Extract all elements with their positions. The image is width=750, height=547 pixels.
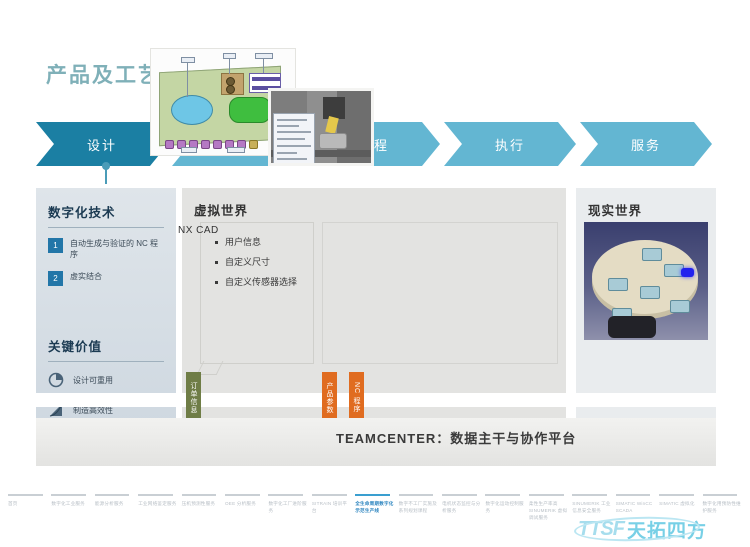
nc-parameters-dialog xyxy=(273,113,315,165)
nav-rule xyxy=(225,494,260,496)
bullet-item: 自定义尺寸 xyxy=(215,255,307,270)
pie-chart-icon xyxy=(48,372,66,388)
nav-label: SIMATIC 虚拟化 xyxy=(659,500,698,507)
nav-rule xyxy=(51,494,86,496)
bottom-nav-item-6[interactable]: 数字化工厂进阶服务 xyxy=(266,494,309,547)
bottom-navigation: 首页 数字化工业服务 能源分析服务 工业网络鉴定服务 压机预测性服务 OEE 分… xyxy=(0,494,750,547)
nav-label: 压机预测性服务 xyxy=(182,500,221,507)
chevron-tab-design[interactable]: 设计 xyxy=(36,122,168,166)
cad-leader-line xyxy=(263,59,264,73)
bottom-nav-item-3[interactable]: 工业网络鉴定服务 xyxy=(136,494,179,547)
panel-title: 虚拟世界 xyxy=(182,188,566,219)
nav-rule xyxy=(485,494,520,496)
ribbon-nc-program: NC 程序 xyxy=(349,372,364,418)
nav-label: 数字化工厂进阶服务 xyxy=(268,500,307,514)
fixture-plate xyxy=(640,286,660,299)
tech-item-number: 1 xyxy=(48,238,63,253)
nav-rule xyxy=(399,494,434,496)
nav-rule xyxy=(95,494,130,496)
rotary-table-photo xyxy=(584,222,708,340)
spindle-head xyxy=(323,97,345,119)
nx-cad-frame xyxy=(322,222,558,364)
bottom-nav-item-4[interactable]: 压机预测性服务 xyxy=(180,494,223,547)
nav-label: 柔性生产率高 SINUMERIK 虚拟调试服务 xyxy=(529,500,568,521)
machine-base xyxy=(608,316,656,338)
teamcenter-label: TEAMCENTER：数据主干与协作平台 xyxy=(336,428,576,447)
fixture-plate xyxy=(642,248,662,261)
nav-label: SINUMERIK 工业信息安全服务 xyxy=(572,500,611,514)
nav-rule xyxy=(659,494,694,496)
bottom-nav-item-11[interactable]: 数字化运动控制服务 xyxy=(483,494,526,547)
divider-band xyxy=(36,393,716,407)
value-list-item: 设计可重用 xyxy=(48,372,164,388)
bottom-nav-item-5[interactable]: OEE 分析服务 xyxy=(223,494,266,547)
nav-label: 能源分析服务 xyxy=(95,500,134,507)
bottom-nav-item-16[interactable]: 数字化用预防性维护服务 xyxy=(701,494,744,547)
bottom-nav-item-13[interactable]: SINUMERIK 工业信息安全服务 xyxy=(570,494,613,547)
bottom-nav-item-1[interactable]: 数字化工业服务 xyxy=(49,494,92,547)
bottom-nav-item-10[interactable]: 电机状态监控与分析服务 xyxy=(440,494,483,547)
nav-rule xyxy=(138,494,173,496)
tech-list-item: 1 自动生成与验证的 NC 程序 xyxy=(48,238,164,260)
bullet-item: 自定义传感器选择 xyxy=(215,275,307,290)
nav-rule xyxy=(182,494,217,496)
nav-rule xyxy=(442,494,477,496)
nav-label: 数字化运动控制服务 xyxy=(485,500,524,514)
nav-label: SIMATIC WinCC SCADA xyxy=(616,500,655,514)
cad-press-unit xyxy=(221,73,244,95)
cad-callout-tag xyxy=(181,147,197,153)
bottom-nav-item-7[interactable]: SITRAIN 培训平台 xyxy=(310,494,353,547)
tech-item-label: 自动生成与验证的 NC 程序 xyxy=(70,238,164,260)
bullet-item: 用户信息 xyxy=(215,235,307,250)
cad-rotary-table xyxy=(171,95,213,125)
cad-station-cell xyxy=(249,140,258,149)
tech-item-label: 虚实结合 xyxy=(70,271,102,282)
digital-technology-card: 数字化技术 1 自动生成与验证的 NC 程序 2 虚实结合 xyxy=(36,188,176,286)
tech-item-number: 2 xyxy=(48,271,63,286)
chevron-tab-service[interactable]: 服务 xyxy=(580,122,712,166)
ribbon-product-parameters: 产品参数 xyxy=(322,372,337,418)
cad-station-cell xyxy=(165,140,174,149)
nav-rule xyxy=(268,494,303,496)
cad-callout-tag xyxy=(181,57,195,63)
fixture-plate xyxy=(608,278,628,291)
nav-label: OEE 分析服务 xyxy=(225,500,264,507)
tech-list-item: 2 虚实结合 xyxy=(48,271,164,286)
cad-callout-tag xyxy=(255,53,273,59)
cad-station-cell xyxy=(213,140,222,149)
cad-green-module xyxy=(229,97,271,123)
chevron-label: 服务 xyxy=(631,135,661,154)
cad-leader-line xyxy=(187,63,188,97)
chevron-tab-execution[interactable]: 执行 xyxy=(444,122,576,166)
bottom-nav-item-9[interactable]: 数字不工厂实施及系列规划课程 xyxy=(397,494,440,547)
nav-rule xyxy=(312,494,347,496)
card-title: 关键价值 xyxy=(48,336,164,362)
nav-rule xyxy=(572,494,607,496)
virtual-world-callout: 用户信息 自定义尺寸 自定义传感器选择 xyxy=(200,222,314,364)
bottom-nav-item-2[interactable]: 能源分析服务 xyxy=(93,494,136,547)
nav-label: 数字不工厂实施及系列规划课程 xyxy=(399,500,438,514)
workpiece-chuck xyxy=(319,133,347,149)
nav-label: 数字化用预防性维护服务 xyxy=(703,500,742,514)
cad-station-cell xyxy=(201,140,210,149)
cad-callout-tag xyxy=(227,147,245,153)
bottom-nav-item-14[interactable]: SIMATIC WinCC SCADA xyxy=(614,494,657,547)
bottom-nav-item-12[interactable]: 柔性生产率高 SINUMERIK 虚拟调试服务 xyxy=(527,494,570,547)
nav-label: 电机状态监控与分析服务 xyxy=(442,500,481,514)
nx-cad-label: NX CAD xyxy=(178,225,219,236)
nav-label: 首页 xyxy=(8,500,47,507)
nav-rule xyxy=(529,494,564,496)
cad-knob-icon xyxy=(226,85,235,94)
fixture-plate xyxy=(670,300,690,313)
cnc-simulation-image xyxy=(268,88,374,166)
nav-label: 工业网络鉴定服务 xyxy=(138,500,177,507)
nav-rule xyxy=(8,494,43,496)
nav-label: 全生命周期数字化示范生产线 xyxy=(355,500,394,514)
chevron-label: 设计 xyxy=(87,135,117,154)
blue-indicator-light xyxy=(681,268,694,277)
lifecycle-chevron-nav: 设计 规划 工程 执行 服务 xyxy=(36,122,716,166)
bottom-nav-item-0[interactable]: 首页 xyxy=(6,494,49,547)
cad-leader-line xyxy=(229,59,230,74)
panel-title: 现实世界 xyxy=(576,188,716,219)
bottom-nav-item-15[interactable]: SIMATIC 虚拟化 xyxy=(657,494,700,547)
nav-label: SITRAIN 培训平台 xyxy=(312,500,351,514)
nav-rule xyxy=(616,494,651,496)
nav-rule xyxy=(355,494,390,496)
card-title: 数字化技术 xyxy=(48,202,164,228)
value-item-label: 设计可重用 xyxy=(73,375,113,386)
nav-label: 数字化工业服务 xyxy=(51,500,90,507)
active-tab-pointer-icon xyxy=(105,166,107,184)
chevron-label: 执行 xyxy=(495,135,525,154)
ribbon-order-info: 订单信息 xyxy=(186,372,201,418)
nav-rule xyxy=(703,494,738,496)
bottom-nav-item-8[interactable]: 全生命周期数字化示范生产线 xyxy=(353,494,396,547)
slide-canvas: 产品及工艺设计 设计 规划 工程 执行 服务 数字化技术 1 自动生成与验证的 … xyxy=(0,0,750,547)
